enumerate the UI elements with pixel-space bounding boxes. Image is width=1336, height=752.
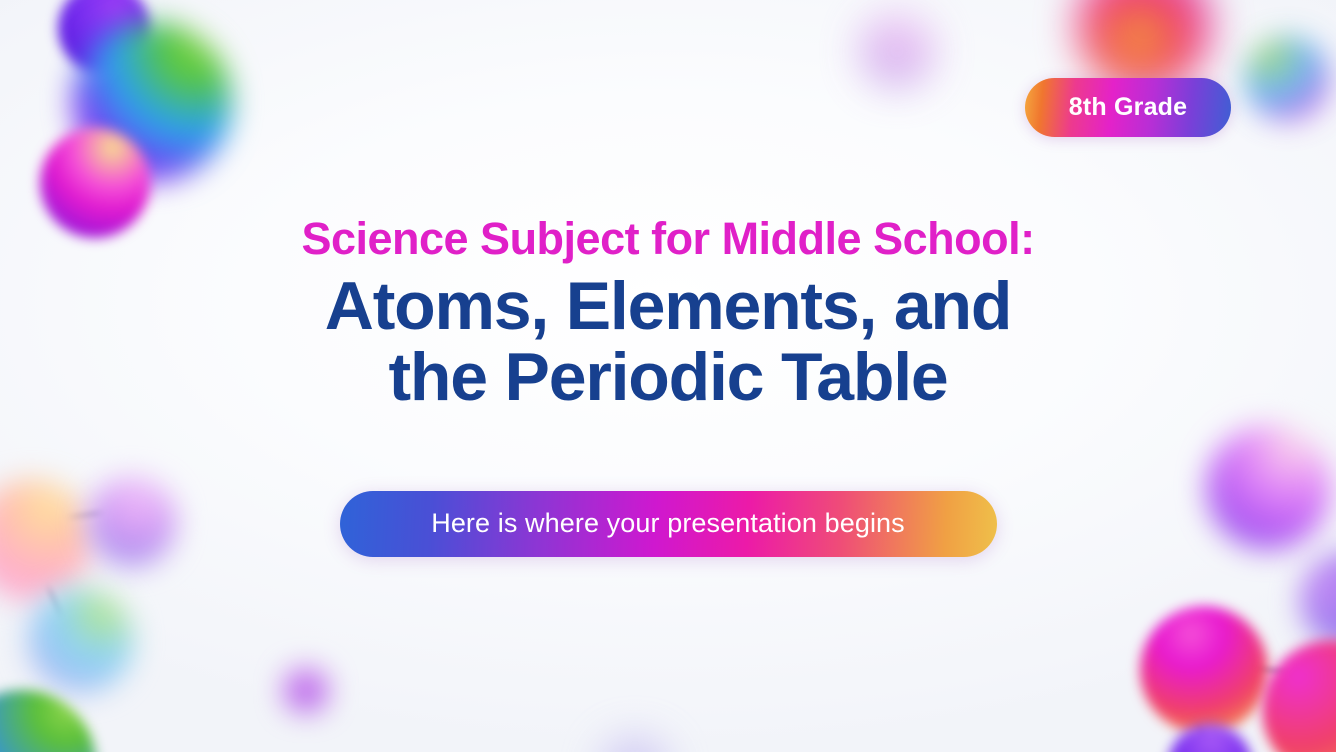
slide-main-title: Atoms, Elements, and the Periodic Table xyxy=(325,271,1011,412)
atom-small-purple-dot xyxy=(284,668,328,712)
grade-badge[interactable]: 8th Grade xyxy=(1025,78,1231,137)
atom-blue-green-sphere xyxy=(72,22,232,182)
presentation-slide: 8th Grade Science Subject for Middle Sch… xyxy=(0,0,1336,752)
atom-soft-lilac-sphere xyxy=(860,14,934,88)
molecule-bond xyxy=(118,59,167,107)
atom-bottom-edge-sphere xyxy=(600,736,670,752)
molecule-bond xyxy=(1193,711,1211,751)
atom-deep-violet-sphere xyxy=(1168,724,1252,752)
atom-pastel-blue-sphere xyxy=(28,588,133,693)
molecule-bond xyxy=(43,580,67,623)
atom-magenta-orange-sphere xyxy=(1262,640,1336,752)
slide-title-line-1: Atoms, Elements, and xyxy=(325,271,1011,342)
atom-magenta-yellow-sphere xyxy=(1140,606,1268,734)
atom-green-blue-sphere xyxy=(0,690,96,752)
slide-eyebrow-title: Science Subject for Middle School: xyxy=(301,214,1034,265)
subtitle-pill[interactable]: Here is where your presentation begins xyxy=(340,491,997,557)
slide-content: Science Subject for Middle School: Atoms… xyxy=(0,214,1336,557)
molecule-bond xyxy=(1244,664,1296,676)
grade-badge-label: 8th Grade xyxy=(1069,95,1188,120)
subtitle-text: Here is where your presentation begins xyxy=(431,510,905,537)
atom-pink-edge-sphere xyxy=(1300,552,1336,648)
molecule-bond xyxy=(107,127,141,183)
atom-violet-sphere xyxy=(58,0,150,74)
atom-rainbow-sphere xyxy=(1244,36,1330,122)
slide-title-line-2: the Periodic Table xyxy=(325,342,1011,413)
